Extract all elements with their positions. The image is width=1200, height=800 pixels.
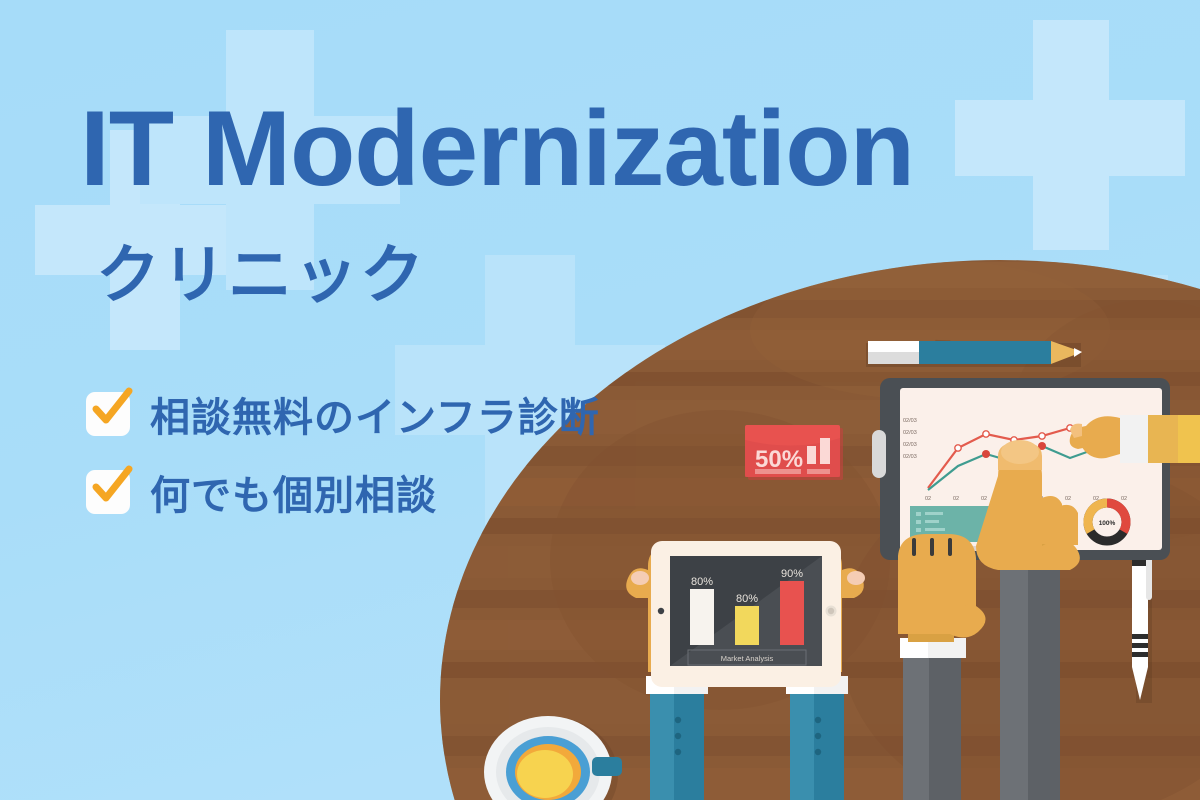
list-item-label: 何でも個別相談 xyxy=(150,463,437,521)
list-item: 何でも個別相談 xyxy=(86,463,600,521)
svg-text:02/03: 02/03 xyxy=(903,430,917,436)
promo-banner: 50% xyxy=(0,0,1200,800)
svg-text:02/03: 02/03 xyxy=(903,442,917,448)
svg-text:02: 02 xyxy=(981,496,987,502)
svg-text:90%: 90% xyxy=(781,568,803,580)
checkbox-checked-icon xyxy=(86,470,130,514)
svg-text:02: 02 xyxy=(1065,496,1071,502)
svg-text:50%: 50% xyxy=(755,446,803,473)
svg-text:Market Analysis: Market Analysis xyxy=(721,654,774,663)
list-item: 相談無料のインフラ診断 xyxy=(86,385,600,443)
page-title: IT Modernization xyxy=(80,95,914,202)
svg-text:80%: 80% xyxy=(736,593,758,605)
pen-icon xyxy=(1132,540,1152,703)
svg-text:02/03: 02/03 xyxy=(903,454,917,460)
coupon-card: 50% xyxy=(745,425,843,480)
pencil-icon xyxy=(866,340,1082,367)
feature-list: 相談無料のインフラ診断 何でも個別相談 xyxy=(86,385,600,541)
svg-text:02: 02 xyxy=(953,496,959,502)
list-item-label: 相談無料のインフラ診断 xyxy=(150,385,600,443)
svg-text:80%: 80% xyxy=(691,576,713,588)
page-subtitle: クリニック xyxy=(96,243,426,307)
svg-text:02: 02 xyxy=(1121,496,1127,502)
checkbox-checked-icon xyxy=(86,392,130,436)
svg-text:02: 02 xyxy=(925,496,931,502)
svg-text:100%: 100% xyxy=(1099,520,1116,527)
svg-text:02/03: 02/03 xyxy=(903,418,917,424)
